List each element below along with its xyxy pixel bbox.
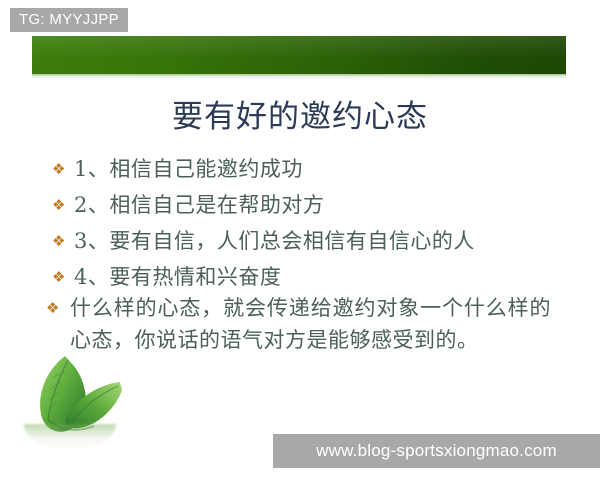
list-item-label: 1、相信自己能邀约成功: [74, 154, 552, 184]
presentation-slide: TG: MYYJJPP 要有好的邀约心态 ❖ 1、相信自己能邀约成功 ❖ 2、相…: [0, 0, 600, 480]
list-item: ❖ 3、要有自信，人们总会相信有自信心的人: [52, 226, 552, 256]
diamond-bullet-icon: ❖: [46, 292, 70, 324]
diamond-bullet-icon: ❖: [52, 190, 74, 220]
tg-tag-badge: TG: MYYJJPP: [10, 8, 128, 32]
diamond-bullet-icon: ❖: [52, 226, 74, 256]
summary-paragraph-item: ❖ 什么样的心态，就会传递给邀约对象一个什么样的心态，你说话的语气对方是能够感受…: [46, 292, 551, 356]
header-band-reflection: [32, 74, 566, 80]
green-header-band: [32, 36, 566, 74]
footer-watermark-text: www.blog-sportsxiongmao.com: [316, 441, 557, 461]
diamond-bullet-icon: ❖: [52, 154, 74, 184]
header-band-sheen: [32, 36, 566, 59]
diamond-bullet-icon: ❖: [52, 262, 74, 292]
slide-title: 要有好的邀约心态: [0, 98, 600, 136]
list-item: ❖ 2、相信自己是在帮助对方: [52, 190, 552, 220]
footer-watermark: www.blog-sportsxiongmao.com: [273, 434, 600, 468]
list-item-label: 2、相信自己是在帮助对方: [74, 190, 552, 220]
list-item: ❖ 4、要有热情和兴奋度: [52, 262, 552, 292]
list-item-label: 4、要有热情和兴奋度: [74, 262, 552, 292]
list-item: ❖ 1、相信自己能邀约成功: [52, 154, 552, 184]
summary-paragraph-text: 什么样的心态，就会传递给邀约对象一个什么样的心态，你说话的语气对方是能够感受到的…: [70, 292, 551, 356]
bullet-list: ❖ 1、相信自己能邀约成功 ❖ 2、相信自己是在帮助对方 ❖ 3、要有自信，人们…: [52, 154, 552, 298]
list-item-label: 3、要有自信，人们总会相信有自信心的人: [74, 226, 552, 256]
